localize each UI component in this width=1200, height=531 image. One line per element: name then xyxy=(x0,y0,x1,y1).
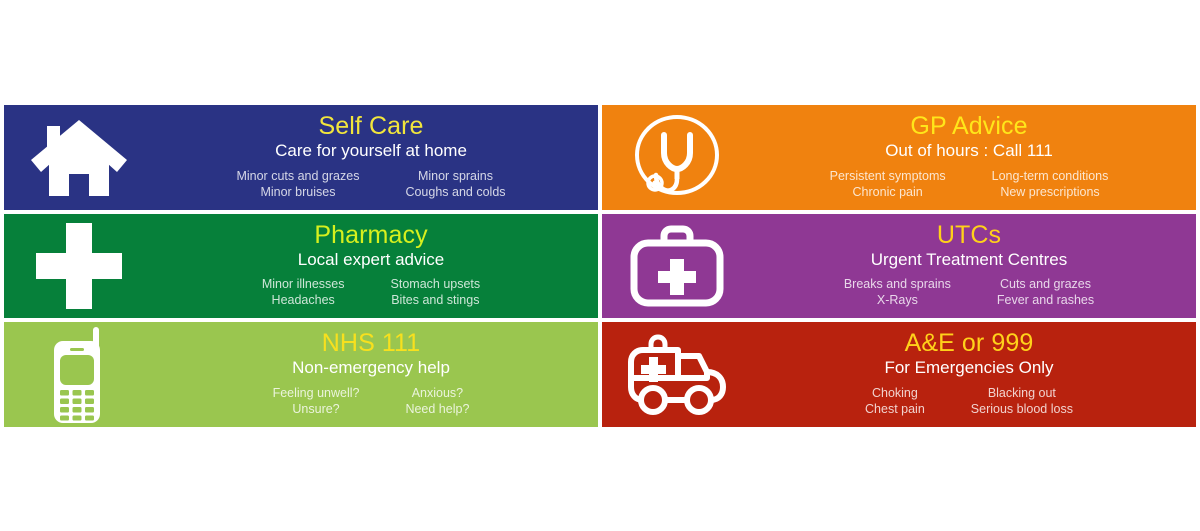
symptom-column-right: Long-term conditions New prescriptions xyxy=(992,168,1109,200)
symptom-column-left: Persistent symptoms Chronic pain xyxy=(830,168,946,200)
panel-title: Self Care xyxy=(318,113,423,140)
symptom-column-right: Stomach upsets Bites and stings xyxy=(391,276,481,308)
symptom-column-left: Feeling unwell? Unsure? xyxy=(273,385,360,417)
panel-subtitle: Out of hours : Call 111 xyxy=(885,141,1053,161)
symptom-item: Minor bruises xyxy=(260,184,335,200)
ambulance-icon xyxy=(602,322,752,427)
symptom-list: Choking Chest pain Blacking out Serious … xyxy=(865,385,1073,417)
panel-gp-advice[interactable]: GP Advice Out of hours : Call 111 Persis… xyxy=(602,105,1196,210)
symptom-list: Minor cuts and grazes Minor bruises Mino… xyxy=(236,168,505,200)
symptom-column-right: Anxious? Need help? xyxy=(405,385,469,417)
utcs-text-block: UTCs Urgent Treatment Centres Breaks and… xyxy=(752,222,1196,311)
symptom-list: Breaks and sprains X-Rays Cuts and graze… xyxy=(844,276,1094,308)
symptom-column-right: Cuts and grazes Fever and rashes xyxy=(997,276,1094,308)
panel-utcs[interactable]: UTCs Urgent Treatment Centres Breaks and… xyxy=(602,214,1196,319)
symptom-item: Chest pain xyxy=(865,401,925,417)
choose-well-panel-grid: Self Care Care for yourself at home Mino… xyxy=(4,105,1196,427)
symptom-column-left: Choking Chest pain xyxy=(865,385,925,417)
symptom-item: Persistent symptoms xyxy=(830,168,946,184)
symptom-list: Feeling unwell? Unsure? Anxious? Need he… xyxy=(273,385,470,417)
symptom-item: Anxious? xyxy=(412,385,463,401)
symptom-item: Chronic pain xyxy=(853,184,923,200)
self-care-text-block: Self Care Care for yourself at home Mino… xyxy=(154,113,598,202)
symptom-item: Bites and stings xyxy=(391,292,479,308)
panel-ae-999[interactable]: A&E or 999 For Emergencies Only Choking … xyxy=(602,322,1196,427)
stethoscope-icon xyxy=(602,105,752,210)
symptom-column-right: Blacking out Serious blood loss xyxy=(971,385,1073,417)
symptom-item: Breaks and sprains xyxy=(844,276,951,292)
symptom-item: Cuts and grazes xyxy=(1000,276,1091,292)
panel-title: UTCs xyxy=(937,222,1001,249)
symptom-column-right: Minor sprains Coughs and colds xyxy=(405,168,505,200)
symptom-item: Blacking out xyxy=(988,385,1056,401)
panel-pharmacy[interactable]: Pharmacy Local expert advice Minor illne… xyxy=(4,214,598,319)
symptom-item: Feeling unwell? xyxy=(273,385,360,401)
panel-title: NHS 111 xyxy=(322,330,420,357)
mobile-phone-icon xyxy=(4,322,154,427)
panel-self-care[interactable]: Self Care Care for yourself at home Mino… xyxy=(4,105,598,210)
panel-title: A&E or 999 xyxy=(905,330,1034,357)
gp-advice-text-block: GP Advice Out of hours : Call 111 Persis… xyxy=(752,113,1196,202)
panel-nhs-111[interactable]: NHS 111 Non-emergency help Feeling unwel… xyxy=(4,322,598,427)
symptom-item: Minor cuts and grazes xyxy=(236,168,359,184)
symptom-item: Minor illnesses xyxy=(262,276,345,292)
symptom-item: Headaches xyxy=(272,292,335,308)
symptom-column-left: Minor illnesses Headaches xyxy=(262,276,345,308)
panel-subtitle: For Emergencies Only xyxy=(884,358,1053,378)
symptom-list: Minor illnesses Headaches Stomach upsets… xyxy=(262,276,480,308)
nhs-111-text-block: NHS 111 Non-emergency help Feeling unwel… xyxy=(154,330,598,419)
panel-subtitle: Local expert advice xyxy=(298,250,444,270)
symptom-item: Coughs and colds xyxy=(405,184,505,200)
symptom-column-left: Breaks and sprains X-Rays xyxy=(844,276,951,308)
pharmacy-cross-icon xyxy=(4,214,154,319)
symptom-item: Long-term conditions xyxy=(992,168,1109,184)
symptom-item: Need help? xyxy=(405,401,469,417)
house-icon xyxy=(4,105,154,210)
ae-999-text-block: A&E or 999 For Emergencies Only Choking … xyxy=(752,330,1196,419)
panel-subtitle: Care for yourself at home xyxy=(275,141,467,161)
symptom-item: X-Rays xyxy=(877,292,918,308)
symptom-item: Serious blood loss xyxy=(971,401,1073,417)
symptom-item: Stomach upsets xyxy=(391,276,481,292)
panel-title: GP Advice xyxy=(910,113,1027,140)
panel-title: Pharmacy xyxy=(314,222,427,249)
medical-bag-icon xyxy=(602,214,752,319)
panel-subtitle: Non-emergency help xyxy=(292,358,450,378)
symptom-column-left: Minor cuts and grazes Minor bruises xyxy=(236,168,359,200)
symptom-item: Fever and rashes xyxy=(997,292,1094,308)
symptom-item: New prescriptions xyxy=(1000,184,1099,200)
pharmacy-text-block: Pharmacy Local expert advice Minor illne… xyxy=(154,222,598,311)
symptom-item: Minor sprains xyxy=(418,168,493,184)
symptom-item: Choking xyxy=(872,385,918,401)
symptom-item: Unsure? xyxy=(292,401,339,417)
panel-subtitle: Urgent Treatment Centres xyxy=(871,250,1068,270)
symptom-list: Persistent symptoms Chronic pain Long-te… xyxy=(830,168,1109,200)
